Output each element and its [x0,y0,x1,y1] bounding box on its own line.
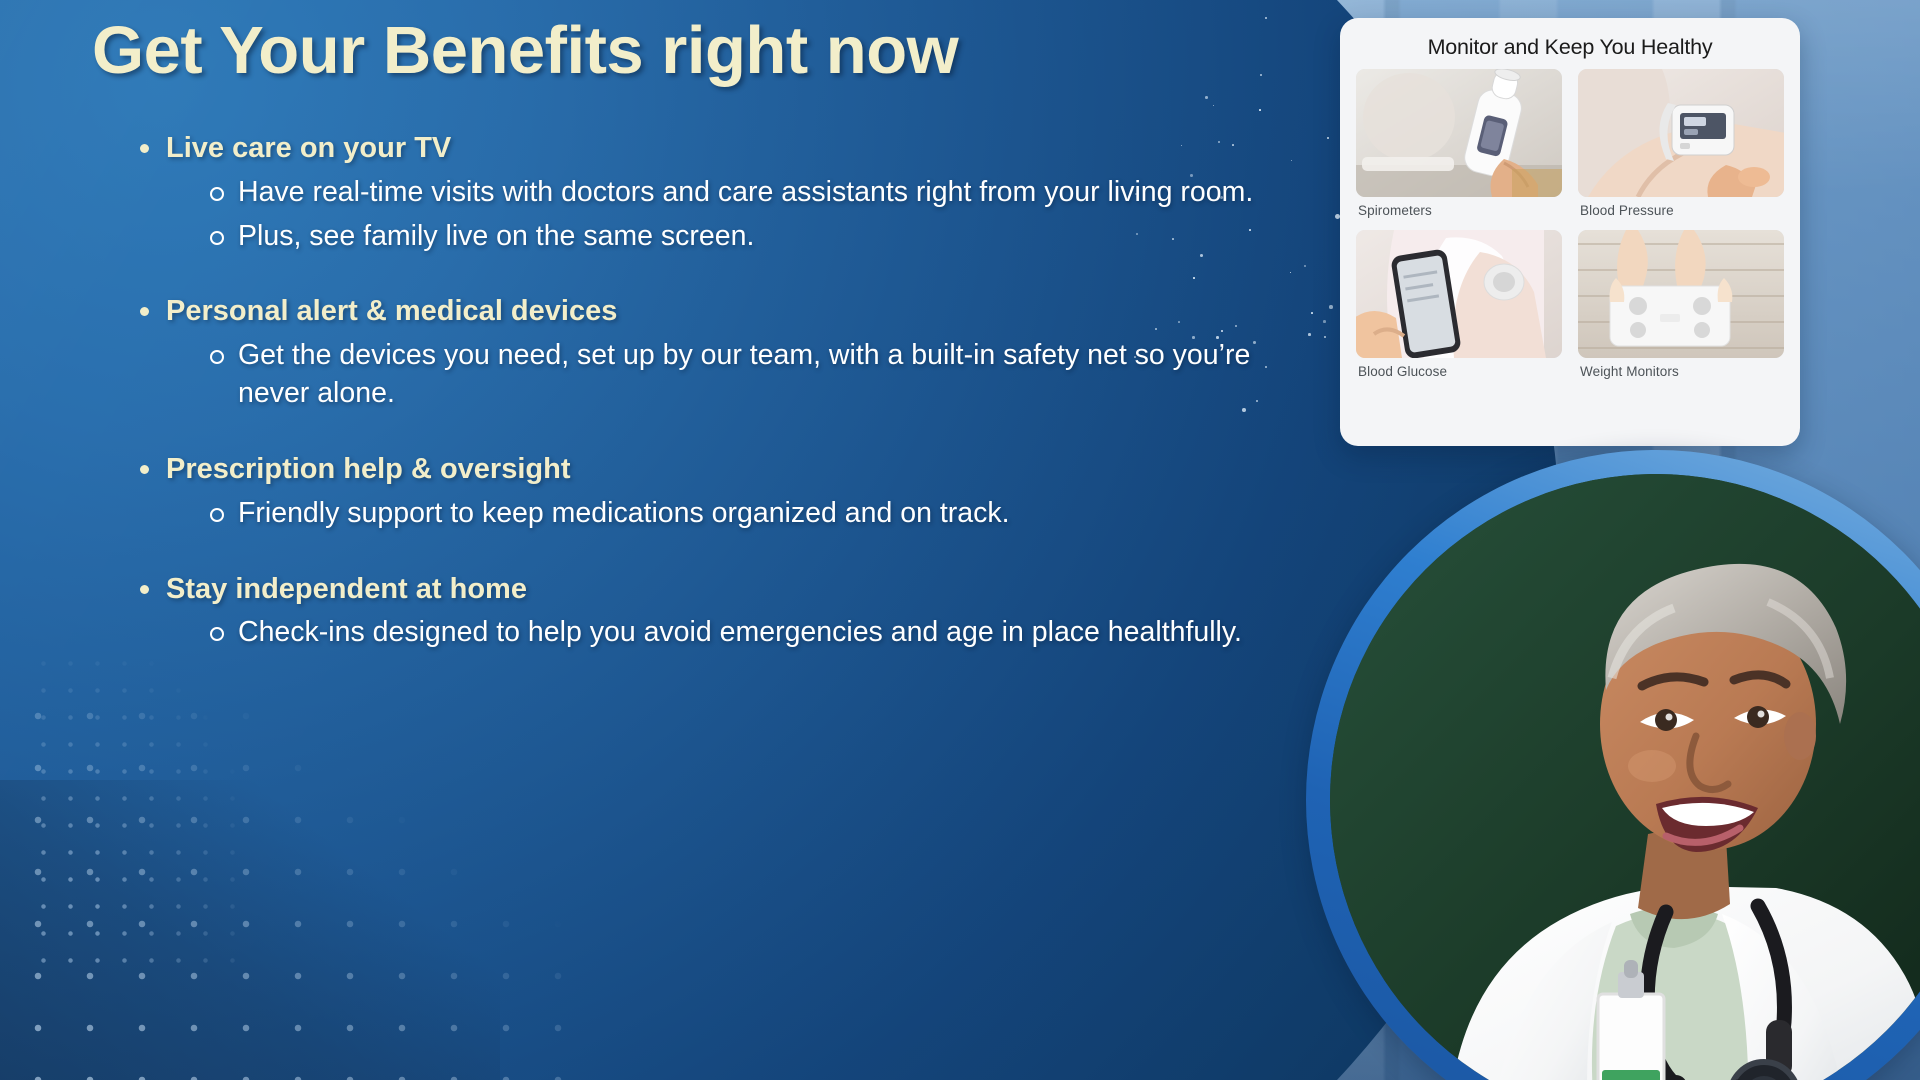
page-title: Get Your Benefits right now [92,12,958,89]
benefit-detail: Have real-time visits with doctors and c… [204,174,1310,212]
device-tile: Weight Monitors [1578,230,1784,387]
sparkle-dot [1327,137,1329,139]
benefit-heading: Stay independent at home [130,571,1310,609]
device-tile-label: Blood Pressure [1578,197,1784,226]
sparkle-dot [1311,312,1313,314]
sparkle-dot [1329,305,1333,309]
smart-scale-icon [1578,230,1784,358]
benefits-list: Live care on your TV Have real-time visi… [130,130,1310,652]
blood-glucose-sensor-icon [1356,230,1562,358]
benefit-heading: Personal alert & medical devices [130,293,1310,331]
device-card-title: Monitor and Keep You Healthy [1356,28,1784,69]
benefit-heading: Prescription help & oversight [130,451,1310,489]
benefit-group: Live care on your TV Have real-time visi… [130,130,1310,255]
doctor-portrait-photo [1330,474,1920,1080]
device-tile-label: Weight Monitors [1578,358,1784,387]
device-card: Monitor and Keep You Healthy [1340,18,1800,446]
sparkle-dot [1205,96,1208,99]
benefit-detail: Plus, see family live on the same screen… [204,218,1310,256]
blood-pressure-monitor-icon [1578,69,1784,197]
device-tile: Blood Glucose [1356,230,1562,387]
sparkle-dot [1260,74,1262,76]
sparkle-dot [1265,17,1267,19]
benefit-heading: Live care on your TV [130,130,1310,168]
sparkle-dot [1323,320,1326,323]
benefit-group: Stay independent at home Check-ins desig… [130,571,1310,653]
device-tile-label: Spirometers [1356,197,1562,226]
device-tile: Blood Pressure [1578,69,1784,226]
sparkle-dot [1324,336,1326,338]
spirometer-icon [1356,69,1562,197]
device-tile-grid: Spirometers [1356,69,1784,387]
benefit-detail: Friendly support to keep medications org… [204,495,1310,533]
benefit-detail: Get the devices you need, set up by our … [204,337,1310,413]
benefit-group: Prescription help & oversight Friendly s… [130,451,1310,533]
device-tile-label: Blood Glucose [1356,358,1562,387]
benefit-group: Personal alert & medical devices Get the… [130,293,1310,412]
benefit-detail: Check-ins designed to help you avoid eme… [204,614,1310,652]
slide-canvas: Get Your Benefits right now Live care on… [0,0,1920,1080]
bottom-left-fine-dot-grid [30,650,250,980]
device-tile: Spirometers [1356,69,1562,226]
sparkle-dot [1213,105,1214,106]
sparkle-dot [1259,109,1261,111]
